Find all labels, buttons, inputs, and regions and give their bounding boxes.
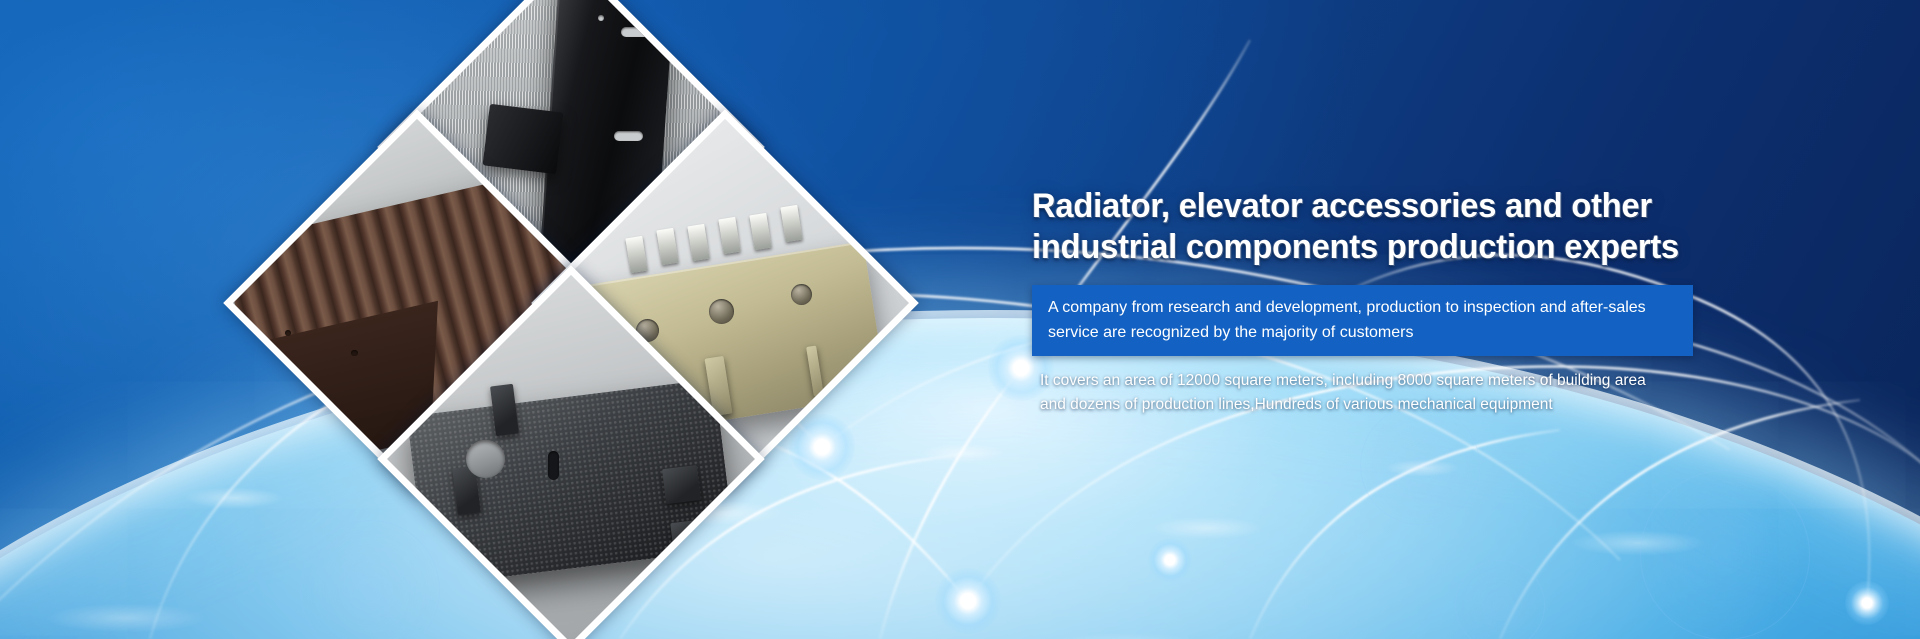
lens-flare [1640,470,1810,639]
banner-copy: Radiator, elevator accessories and other… [1032,186,1732,417]
network-node [1845,581,1889,625]
banner-subtext: It covers an area of 12000 square meters… [1040,369,1730,417]
banner-callout-box: A company from research and development,… [1032,285,1693,356]
network-node [935,568,1001,634]
lens-flare [1455,560,1545,639]
lens-flare [1360,405,1480,525]
product-image-collage [262,0,882,639]
network-node [1148,538,1192,582]
promo-banner: Radiator, elevator accessories and other… [0,0,1920,639]
banner-headline: Radiator, elevator accessories and other… [1032,186,1704,268]
